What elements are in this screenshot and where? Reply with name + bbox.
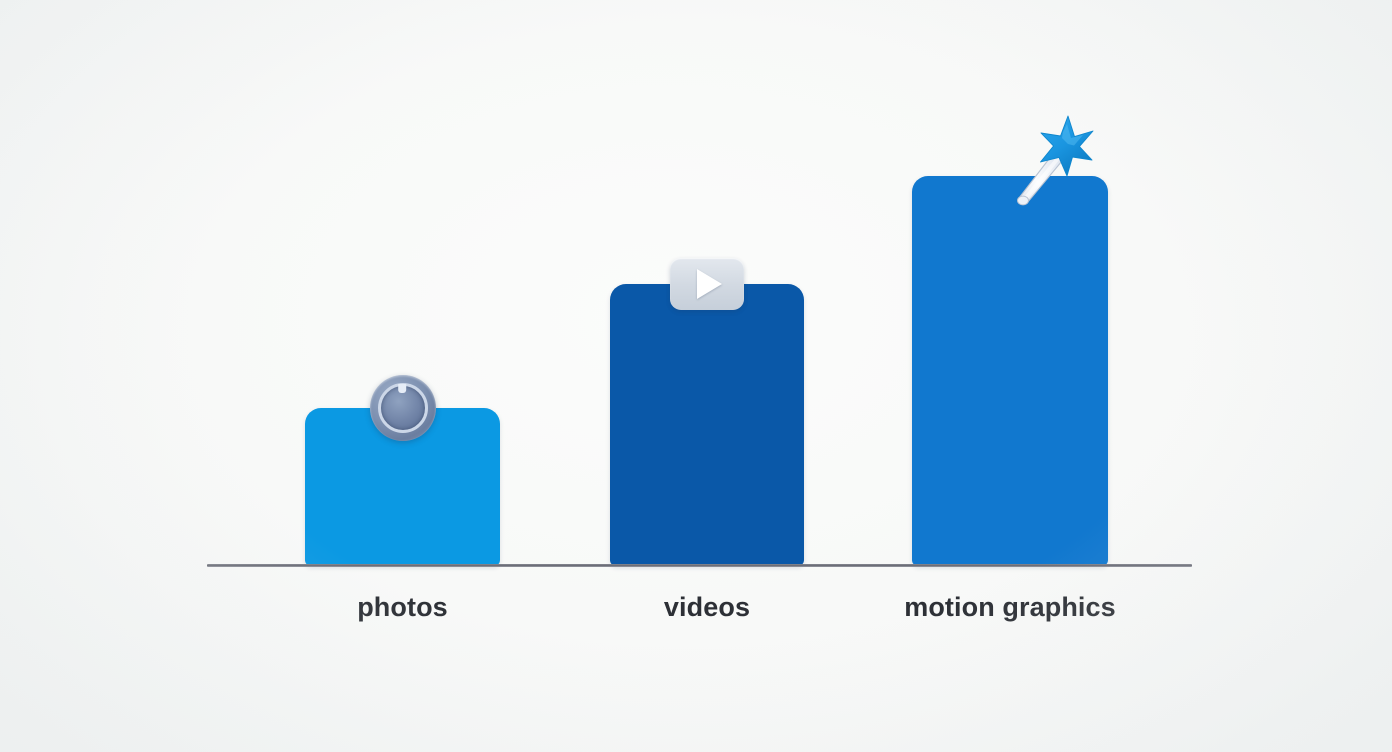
bar-motion-graphics[interactable] — [912, 176, 1108, 566]
chart-baseline-axis — [207, 564, 1192, 567]
bar-photos[interactable] — [305, 408, 500, 566]
camera-lens-notch — [398, 384, 406, 393]
bar-chart-canvas: photos videos — [0, 0, 1392, 752]
magic-wand-star — [1041, 116, 1094, 176]
bar-videos[interactable] — [610, 284, 804, 566]
bar-label-motion-graphics: motion graphics — [792, 588, 1228, 626]
